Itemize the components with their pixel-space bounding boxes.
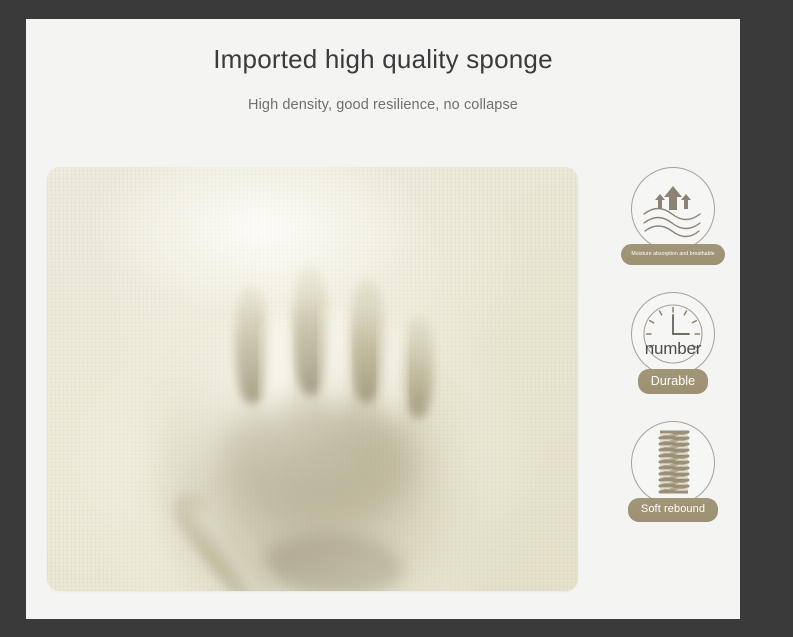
handprint-impression: [47, 167, 578, 591]
feature-badge-durable[interactable]: Durable: [638, 369, 708, 395]
spring-coil-icon: [631, 421, 715, 505]
feature-item-moisture: Moisture absorption and breathable: [618, 167, 728, 270]
feature-badge-rebound[interactable]: Soft rebound: [628, 498, 718, 522]
clock-overlay-text: number: [632, 339, 714, 359]
feature-item-rebound: Soft rebound: [618, 421, 728, 527]
page-title: Imported high quality sponge: [26, 19, 740, 75]
feature-badge-moisture[interactable]: Moisture absorption and breathable: [621, 244, 724, 265]
feature-item-durable: number Durable: [618, 292, 728, 400]
screenshot-frame: Imported high quality sponge High densit…: [0, 0, 793, 637]
feature-list: Moisture absorption and breathable: [618, 167, 728, 549]
moisture-breathable-icon: [631, 167, 715, 251]
header: Imported high quality sponge High densit…: [26, 19, 740, 113]
product-detail-page: Imported high quality sponge High densit…: [26, 19, 740, 619]
clock-icon: number: [631, 292, 715, 376]
page-subtitle: High density, good resilience, no collap…: [26, 75, 740, 113]
product-photo: [47, 167, 578, 591]
